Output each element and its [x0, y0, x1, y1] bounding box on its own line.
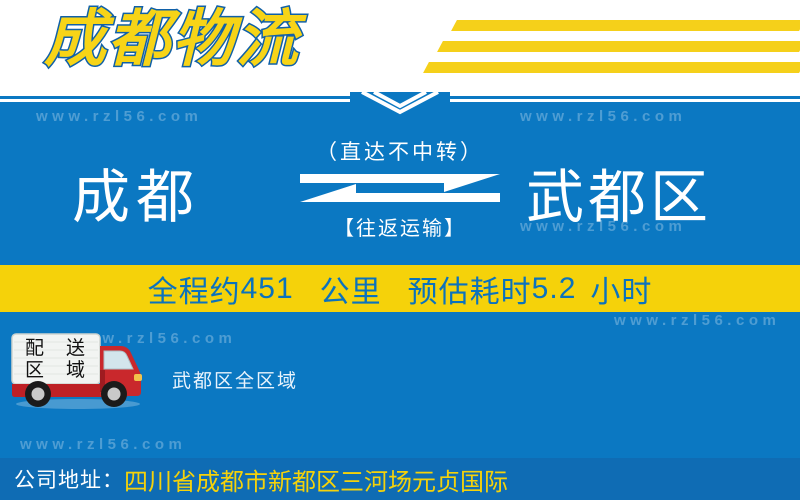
truck-label-char: 区	[14, 360, 55, 382]
delivery-area-text: 武都区全区域	[172, 366, 298, 393]
distance-value: 451	[241, 272, 294, 306]
decorative-stripes	[420, 12, 800, 82]
footer-address-value: 四川省成都市新都区三河场元贞国际	[124, 462, 508, 497]
duration-value: 5.2	[532, 272, 577, 306]
logistics-banner: 成都物流 www.rzl56.com www.rzl56.com www.rzl…	[0, 0, 800, 500]
truck-label-char: 域	[55, 360, 96, 382]
stripe-2	[437, 41, 800, 52]
stripe-1	[451, 20, 800, 31]
watermark: www.rzl56.com	[614, 312, 780, 329]
truck-label-char: 配	[14, 338, 55, 360]
watermark: www.rzl56.com	[20, 436, 186, 453]
truck-label: 配 送 区 域	[14, 338, 96, 382]
distance-band: 全程约 451 公里 预估耗时 5.2 小时	[0, 265, 800, 312]
brand-title: 成都物流	[44, 4, 300, 76]
origin-city: 成都	[72, 166, 200, 230]
distance-unit: 公里	[320, 267, 382, 311]
stripe-3	[423, 62, 800, 73]
truck-label-char: 送	[55, 338, 96, 360]
watermark: www.rzl56.com	[520, 108, 686, 125]
route-note-bottom: 【往返运输】	[285, 216, 515, 242]
watermark: www.rzl56.com	[36, 108, 202, 125]
destination-city: 武都区	[526, 166, 712, 230]
footer-address-label: 公司地址：	[14, 464, 124, 494]
route-note-top: （直达不中转）	[285, 140, 515, 166]
duration-prefix: 预估耗时	[408, 267, 532, 311]
double-arrow-icon	[300, 172, 500, 214]
route-middle: （直达不中转） 【往返运输】	[285, 140, 515, 260]
footer-bar: 公司地址： 四川省成都市新都区三河场元贞国际	[0, 458, 800, 500]
chevron-down-icon	[354, 86, 446, 120]
header-bar: 成都物流	[0, 0, 800, 96]
distance-prefix: 全程约	[148, 267, 241, 311]
duration-unit: 小时	[590, 267, 652, 311]
